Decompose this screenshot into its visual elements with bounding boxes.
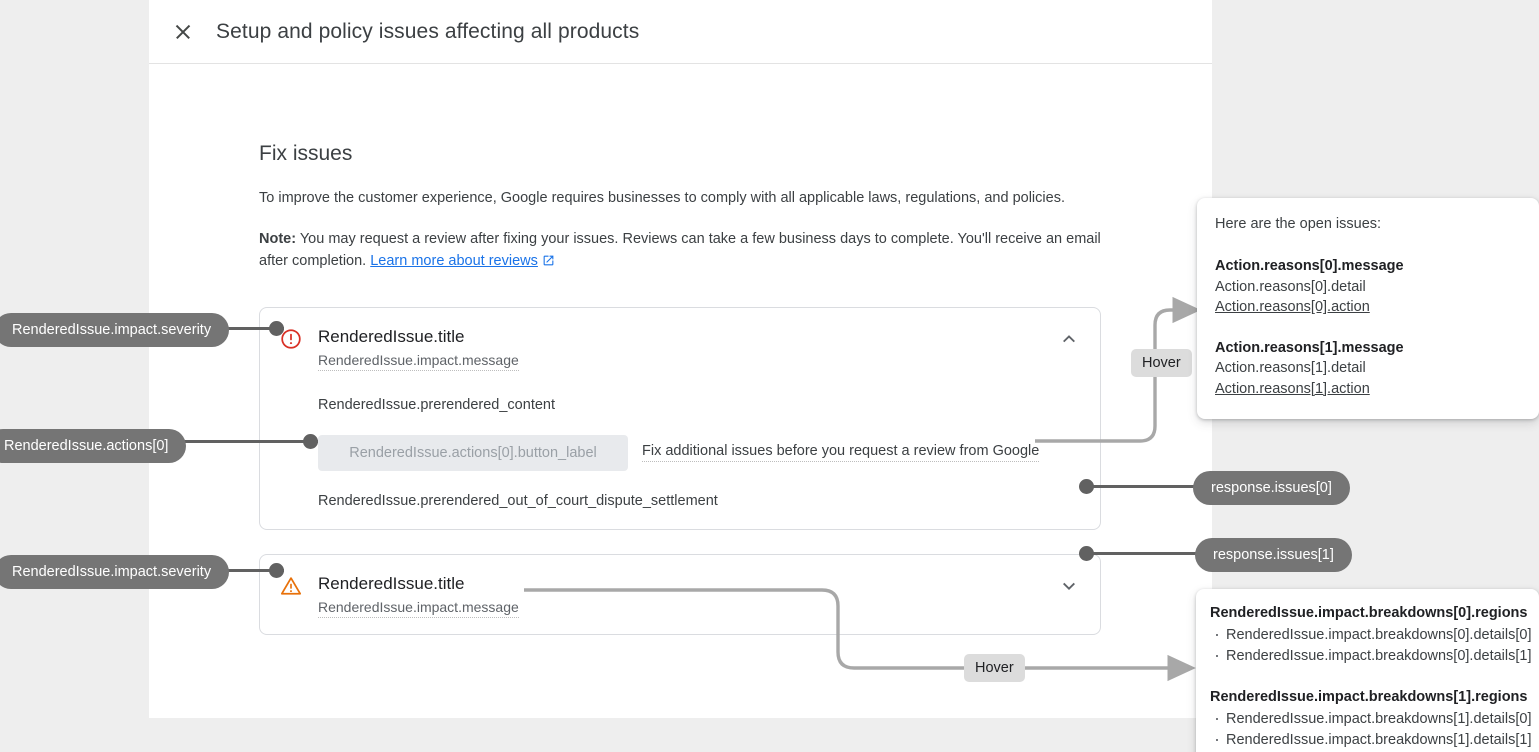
intro-text: To improve the customer experience, Goog… <box>259 188 1212 209</box>
page-root: Setup and policy issues affecting all pr… <box>0 0 1539 752</box>
issue-card-list: RenderedIssue.title RenderedIssue.impact… <box>259 307 1212 636</box>
issue-impact-message[interactable]: RenderedIssue.impact.message <box>318 352 519 371</box>
issue-impact-message[interactable]: RenderedIssue.impact.message <box>318 599 519 618</box>
breakdown-detail: RenderedIssue.impact.breakdowns[0].detai… <box>1210 625 1521 646</box>
issue-out-of-court-settlement: RenderedIssue.prerendered_out_of_court_d… <box>318 493 1080 509</box>
issue-card-header[interactable]: RenderedIssue.title RenderedIssue.impact… <box>260 308 1100 371</box>
reason-message: Action.reasons[0].message <box>1215 256 1519 277</box>
issues-modal: Setup and policy issues affecting all pr… <box>149 0 1212 718</box>
annotation-dot <box>269 321 284 336</box>
hover-chip-breakdowns: Hover <box>964 654 1025 682</box>
breakdown-regions: RenderedIssue.impact.breakdowns[0].regio… <box>1210 603 1521 625</box>
breakdown-detail: RenderedIssue.impact.breakdowns[1].detai… <box>1210 709 1521 730</box>
annotation-dot <box>1079 479 1094 494</box>
modal-body: Fix issues To improve the customer exper… <box>149 64 1212 635</box>
annotation-dot <box>269 563 284 578</box>
annotation-dot <box>1079 546 1094 561</box>
annotation-pill-response-1: response.issues[1] <box>1195 538 1352 572</box>
annotation-pill-actions: RenderedIssue.actions[0] <box>0 429 186 463</box>
reason-action-link[interactable]: Action.reasons[0].action <box>1215 297 1519 318</box>
issue-card-body: RenderedIssue.prerendered_content Render… <box>260 397 1100 529</box>
reason-detail: Action.reasons[1].detail <box>1215 358 1519 379</box>
chevron-up-icon[interactable] <box>1058 328 1080 350</box>
section-heading: Fix issues <box>259 142 1212 166</box>
modal-header: Setup and policy issues affecting all pr… <box>149 0 1212 64</box>
issue-card: RenderedIssue.title RenderedIssue.impact… <box>259 307 1101 530</box>
note-label: Note: <box>259 231 296 247</box>
annotation-dot <box>303 434 318 449</box>
issue-card-text: RenderedIssue.title RenderedIssue.impact… <box>318 573 1058 618</box>
breakdown-detail: RenderedIssue.impact.breakdowns[1].detai… <box>1210 730 1521 751</box>
issue-prerendered-content: RenderedIssue.prerendered_content <box>318 397 1080 413</box>
annotation-connector <box>1086 485 1201 488</box>
breakdown-group: RenderedIssue.impact.breakdowns[0].regio… <box>1210 603 1521 667</box>
issue-action-row: RenderedIssue.actions[0].button_label Fi… <box>318 435 1080 471</box>
annotation-connector <box>178 440 318 443</box>
external-link-icon <box>542 253 555 275</box>
issue-card: RenderedIssue.title RenderedIssue.impact… <box>259 554 1101 635</box>
issue-action-note[interactable]: Fix additional issues before you request… <box>642 443 1039 462</box>
issue-title: RenderedIssue.title <box>318 573 1058 594</box>
popup-lead-text: Here are the open issues: <box>1215 216 1519 232</box>
breakdown-group: RenderedIssue.impact.breakdowns[1].regio… <box>1210 687 1521 751</box>
warning-triangle-icon <box>280 575 302 597</box>
close-icon[interactable] <box>171 20 195 44</box>
breakdown-regions: RenderedIssue.impact.breakdowns[1].regio… <box>1210 687 1521 709</box>
open-issues-popup: Here are the open issues: Action.reasons… <box>1197 198 1539 419</box>
popup-reason-group: Action.reasons[1].message Action.reasons… <box>1215 338 1519 400</box>
popup-reason-group: Action.reasons[0].message Action.reasons… <box>1215 256 1519 318</box>
reason-message: Action.reasons[1].message <box>1215 338 1519 359</box>
reason-action-link[interactable]: Action.reasons[1].action <box>1215 379 1519 400</box>
learn-more-link[interactable]: Learn more about reviews <box>370 253 538 269</box>
issue-card-header[interactable]: RenderedIssue.title RenderedIssue.impact… <box>260 555 1100 634</box>
hover-chip-issues: Hover <box>1131 349 1192 377</box>
annotation-connector <box>1086 552 1201 555</box>
annotation-pill-response-0: response.issues[0] <box>1193 471 1350 505</box>
note-block: Note: You may request a review after fix… <box>259 229 1104 275</box>
breakdown-detail: RenderedIssue.impact.breakdowns[0].detai… <box>1210 646 1521 667</box>
impact-breakdowns-popup: RenderedIssue.impact.breakdowns[0].regio… <box>1196 589 1539 752</box>
annotation-pill-severity-2: RenderedIssue.impact.severity <box>0 555 229 589</box>
annotation-pill-severity-1: RenderedIssue.impact.severity <box>0 313 229 347</box>
issue-action-button[interactable]: RenderedIssue.actions[0].button_label <box>318 435 628 471</box>
reason-detail: Action.reasons[0].detail <box>1215 277 1519 298</box>
issue-title: RenderedIssue.title <box>318 326 1058 347</box>
issue-card-text: RenderedIssue.title RenderedIssue.impact… <box>318 326 1058 371</box>
page-title: Setup and policy issues affecting all pr… <box>216 20 639 44</box>
chevron-down-icon[interactable] <box>1058 575 1080 597</box>
